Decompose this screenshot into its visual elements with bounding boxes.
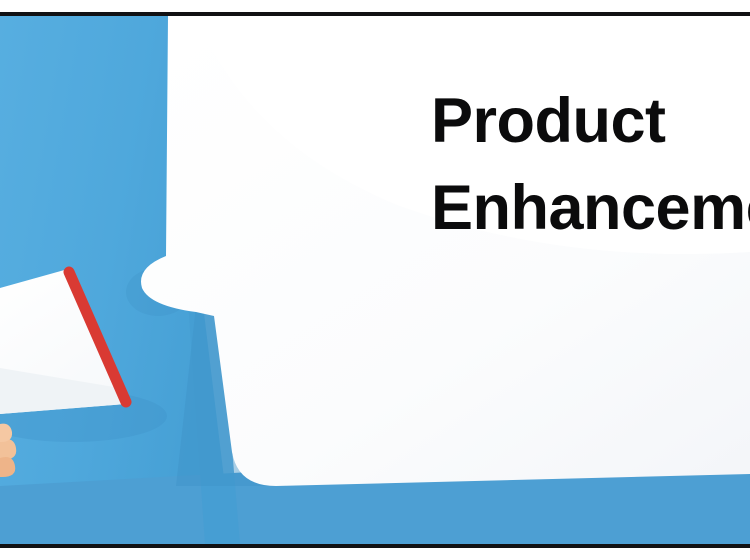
top-gutter [0,0,750,12]
megaphone-announcement-illustration [0,16,750,544]
banner-canvas: Product Enhanceme [0,0,750,560]
announcement-banner: Product Enhanceme [0,16,750,544]
bottom-gutter [0,548,750,560]
